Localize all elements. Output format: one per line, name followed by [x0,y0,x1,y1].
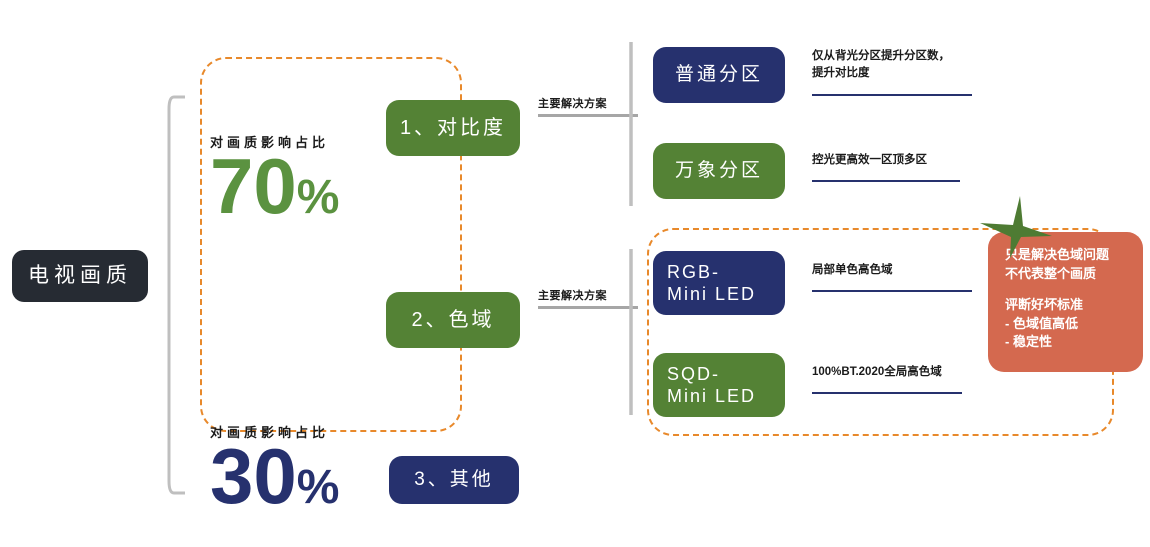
solution-desc-text-normal-zoning: 仅从背光分区提升分区数， 提升对比度 [812,48,972,83]
group-bracket-gamut [626,249,636,415]
solution-label-rgb-mini-led-line2: Mini LED [667,283,756,306]
solution-desc-rule-normal-zoning [812,94,972,96]
caveat-note-line-3: 评断好坏标准 [1005,296,1143,315]
solution-node-rgb-mini-led[interactable]: RGB- Mini LED [653,251,785,315]
star-icon [980,196,1052,258]
caveat-note-line-5: - 稳定性 [1005,333,1143,352]
left-brace-bracket [167,95,187,495]
solution-label-rgb-mini-led-line1: RGB- [667,261,720,284]
diagram-canvas: 电视画质 对画质影响占比 70% 对画质影响占比 30% 1、对比度 2、色域 … [0,0,1150,547]
solution-desc-normal-zoning: 仅从背光分区提升分区数， 提升对比度 [812,48,972,83]
solution-desc-rgb-mini-led: 局部单色高色域 [812,262,972,279]
share-number-70: 70 [210,142,297,230]
group-bracket-contrast [626,42,636,206]
share-block-70: 对画质影响占比 70% [210,132,339,223]
share-value-30: 30% [210,441,339,513]
solution-node-wanxiang-zoning[interactable]: 万象分区 [653,143,785,199]
solution-node-normal-zoning[interactable]: 普通分区 [653,47,785,103]
solution-desc-sqd-mini-led: 100%BT.2020全局高色域 [812,364,962,381]
solution-node-sqd-mini-led[interactable]: SQD- Mini LED [653,353,785,417]
share-number-30: 30 [210,432,297,520]
caveat-note-spacer [1005,284,1143,296]
solution-desc-text-wanxiang-zoning: 控光更高效一区顶多区 [812,152,960,169]
solution-desc-rule-rgb-mini-led [812,290,972,292]
category-node-contrast[interactable]: 1、对比度 [386,100,520,156]
root-node-label: 电视画质 [28,263,132,289]
solution-desc-text-rgb-mini-led: 局部单色高色域 [812,262,972,279]
solution-desc-rule-sqd-mini-led [812,392,962,394]
connector-rule-gamut [538,306,638,309]
share-value-70: 70% [210,151,339,223]
caveat-note-line-2: 不代表整个画质 [1005,265,1143,284]
category-label-other: 3、其他 [414,468,494,492]
root-node-tv-picture-quality[interactable]: 电视画质 [12,250,148,302]
solution-desc-text-sqd-mini-led: 100%BT.2020全局高色域 [812,364,962,381]
solution-desc-wanxiang-zoning: 控光更高效一区顶多区 [812,152,960,169]
category-node-gamut[interactable]: 2、色域 [386,292,520,348]
category-label-gamut: 2、色域 [411,308,494,333]
solution-desc-rule-wanxiang-zoning [812,180,960,182]
category-label-contrast: 1、对比度 [400,116,506,141]
solution-label-wanxiang-zoning: 万象分区 [675,159,763,183]
solution-label-normal-zoning: 普通分区 [675,63,763,87]
caveat-note-line-4: - 色域值高低 [1005,315,1143,334]
category-node-other[interactable]: 3、其他 [389,456,519,504]
connector-rule-contrast [538,114,638,117]
solution-label-sqd-mini-led-line2: Mini LED [667,385,756,408]
share-symbol-70: % [297,171,340,224]
connector-label-gamut: 主要解决方案 [538,287,607,303]
share-symbol-30: % [297,461,340,514]
share-block-30: 对画质影响占比 30% [210,422,339,513]
connector-label-contrast: 主要解决方案 [538,95,607,111]
solution-label-sqd-mini-led-line1: SQD- [667,363,720,386]
